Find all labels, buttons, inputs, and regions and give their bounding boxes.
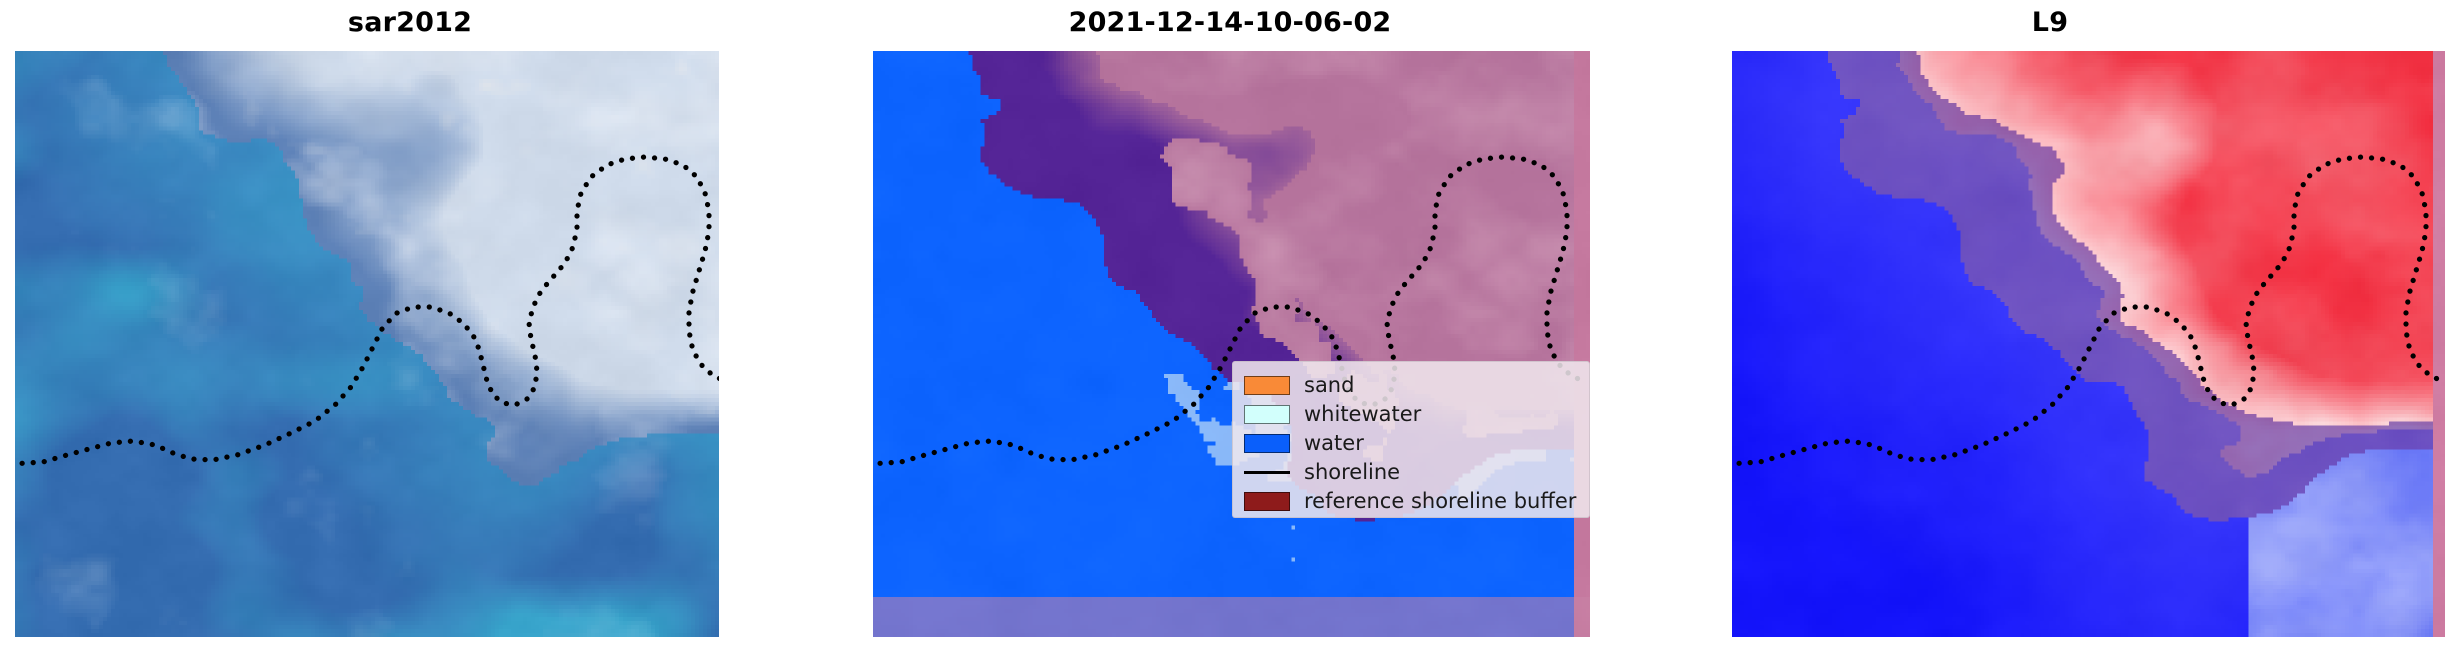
axes-sar2012 bbox=[15, 51, 719, 637]
panel-sar2012: sar2012 bbox=[0, 0, 820, 666]
figure-canvas: sar2012 2021-12-14-10-06-02 L9 bbox=[0, 0, 2460, 666]
legend-label-water: water bbox=[1304, 432, 1364, 455]
legend-label-whitewater: whitewater bbox=[1304, 403, 1421, 426]
axes-classified bbox=[873, 51, 1590, 637]
reference-buffer-swatch-icon bbox=[1244, 492, 1290, 511]
water-swatch-icon bbox=[1244, 434, 1290, 453]
classification-legend: sand whitewater water shoreline referenc… bbox=[1232, 361, 1590, 518]
legend-label-shoreline: shoreline bbox=[1304, 461, 1400, 484]
panel-l9: L9 bbox=[1640, 0, 2460, 666]
whitewater-swatch-icon bbox=[1244, 405, 1290, 424]
shoreline-line-icon bbox=[1244, 463, 1290, 482]
satellite-rgb-raster bbox=[15, 51, 719, 637]
legend-label-reference-buffer: reference shoreline buffer bbox=[1304, 490, 1576, 513]
axes-l9 bbox=[1732, 51, 2445, 637]
legend-item: reference shoreline buffer bbox=[1244, 487, 1577, 516]
panel-title-sar2012: sar2012 bbox=[0, 6, 820, 40]
legend-label-sand: sand bbox=[1304, 374, 1354, 397]
index-raster bbox=[1732, 51, 2445, 637]
legend-item: whitewater bbox=[1244, 400, 1577, 429]
legend-item: sand bbox=[1244, 371, 1577, 400]
legend-item: shoreline bbox=[1244, 458, 1577, 487]
legend-item: water bbox=[1244, 429, 1577, 458]
sand-swatch-icon bbox=[1244, 376, 1290, 395]
panel-title-classified: 2021-12-14-10-06-02 bbox=[820, 6, 1640, 40]
panel-classified: 2021-12-14-10-06-02 bbox=[820, 0, 1640, 666]
panel-title-l9: L9 bbox=[1640, 6, 2460, 40]
classified-raster bbox=[873, 51, 1590, 637]
